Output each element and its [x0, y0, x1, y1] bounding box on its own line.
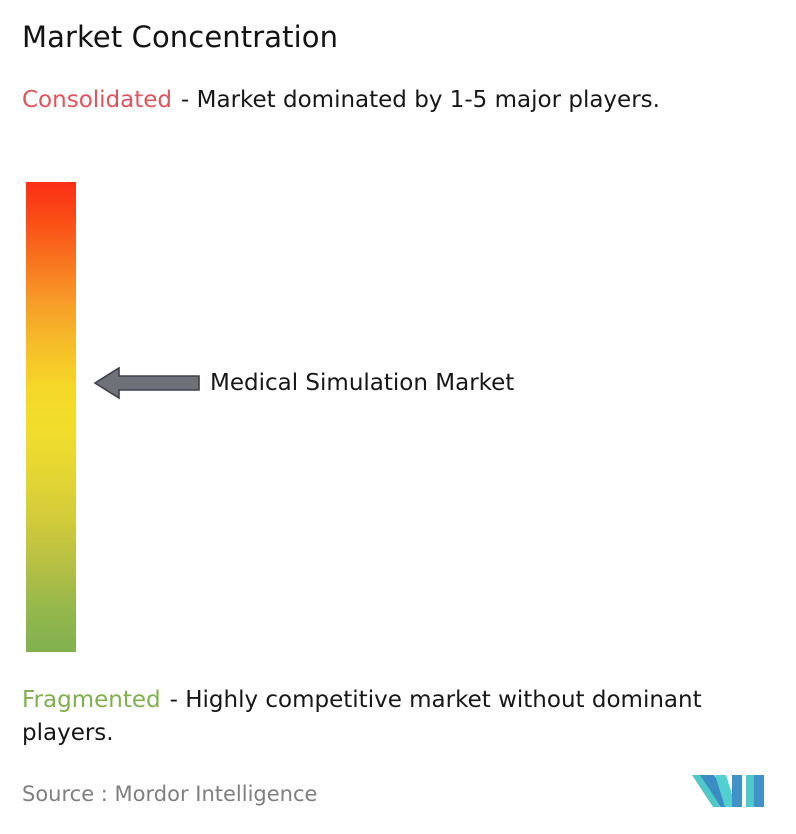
consolidated-description: Consolidated- Market dominated by 1-5 ma…	[22, 84, 762, 117]
market-pointer-label: Medical Simulation Market	[210, 368, 514, 398]
market-concentration-infographic: Market Concentration Consolidated- Marke…	[0, 0, 796, 834]
page-title: Market Concentration	[22, 18, 338, 56]
concentration-gradient-bar	[26, 182, 76, 652]
consolidated-keyword: Consolidated	[22, 87, 172, 113]
market-pointer: Medical Simulation Market	[93, 363, 514, 403]
consolidated-description-text: - Market dominated by 1-5 major players.	[181, 87, 660, 113]
source-attribution: Source : Mordor Intelligence	[22, 780, 317, 808]
mordor-intelligence-logo-icon	[692, 769, 768, 813]
fragmented-description: Fragmented- Highly competitive market wi…	[22, 684, 790, 750]
left-arrow-icon	[93, 365, 201, 401]
fragmented-keyword: Fragmented	[22, 687, 161, 713]
